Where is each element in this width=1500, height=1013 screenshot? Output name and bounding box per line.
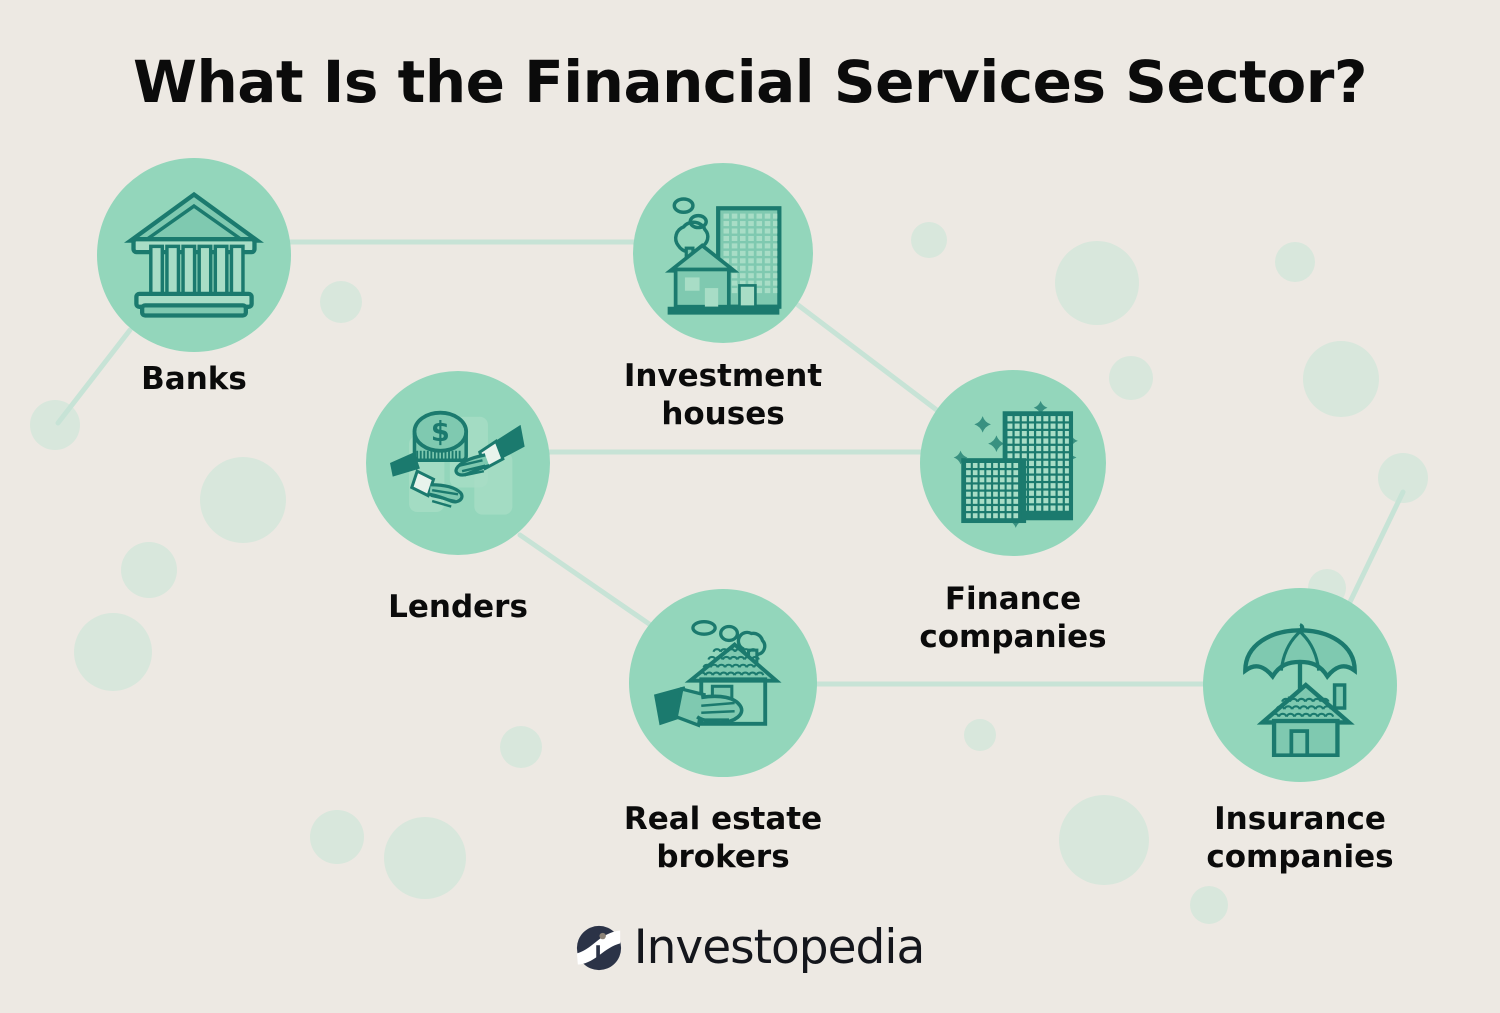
house-and-office-tower-icon-wrapper	[657, 187, 790, 320]
office-towers-sparkle-icon	[944, 394, 1082, 532]
office-towers-sparkle-icon-wrapper	[944, 394, 1082, 532]
connector-investment-houses-to-finance-companies	[798, 305, 938, 411]
connector-insurance-companies-to-node-right	[1350, 492, 1403, 602]
hand-holding-house-icon-wrapper	[654, 614, 793, 753]
node-investment-houses[interactable]	[633, 163, 813, 343]
node-real-estate-brokers[interactable]	[629, 589, 817, 777]
node-finance-companies[interactable]	[920, 370, 1106, 556]
connector-lines-layer	[0, 0, 1500, 1013]
node-insurance-companies[interactable]	[1203, 588, 1397, 782]
hands-exchanging-coin-icon: $	[390, 395, 526, 531]
bank-building-icon-wrapper	[122, 183, 266, 327]
house-and-office-tower-icon	[657, 187, 790, 320]
hand-holding-house-icon	[654, 614, 793, 753]
footer-logo: Investopedia	[0, 920, 1500, 975]
bank-building-icon	[122, 183, 266, 327]
umbrella-over-house-icon	[1228, 613, 1372, 757]
svg-text:$: $	[431, 417, 450, 448]
hands-exchanging-coin-icon-wrapper: $	[390, 395, 526, 531]
node-banks[interactable]	[97, 158, 291, 352]
investopedia-logo-icon	[576, 925, 622, 971]
infographic-canvas: What Is the Financial Services Sector? B…	[0, 0, 1500, 1013]
umbrella-over-house-icon-wrapper	[1228, 613, 1372, 757]
brand-name: Investopedia	[634, 920, 925, 975]
node-lenders[interactable]: $	[366, 371, 550, 555]
